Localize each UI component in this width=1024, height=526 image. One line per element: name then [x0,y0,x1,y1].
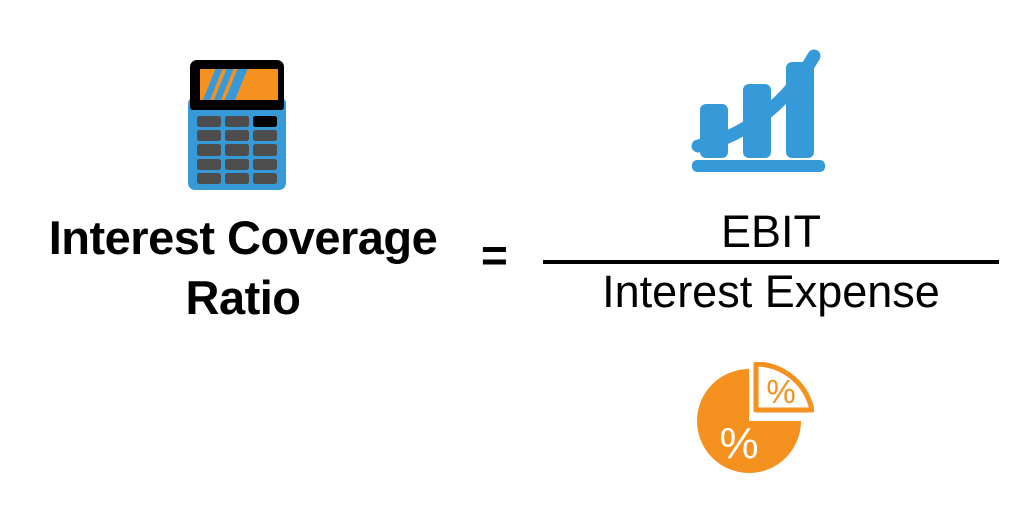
baseline-axis [692,160,825,172]
pie-minor-percent-label: % [766,373,795,410]
calculator-key [225,144,249,155]
calculator-key [253,144,277,155]
calculator-key [197,130,221,141]
pie-chart-percent-icon: % % [694,362,814,480]
bar-3 [786,62,814,158]
calculator-key [253,173,277,184]
calculator-key [225,130,249,141]
calculator-screen [200,69,278,100]
calculator-key-highlighted [253,116,277,127]
calculator-key [253,130,277,141]
pie-major-percent-label: % [719,419,758,468]
fraction-denominator: Interest Expense [543,265,999,319]
calculator-key [225,116,249,127]
bar-1 [700,104,728,158]
fraction-bar [543,260,999,264]
calculator-keypad [197,116,277,184]
calculator-key [197,144,221,155]
calculator-key [225,173,249,184]
ratio-title-line-2: Ratio [8,268,478,328]
formula-fraction: EBIT Interest Expense [543,206,999,319]
calculator-key [197,173,221,184]
ratio-title-line-1: Interest Coverage [8,208,478,268]
fraction-numerator: EBIT [543,206,999,258]
equals-sign: = [481,232,508,278]
calculator-icon [188,60,286,190]
bar-chart-growth-icon [686,42,832,172]
calculator-key [253,159,277,170]
calculator-key [197,116,221,127]
calculator-key [225,159,249,170]
bar-2 [743,84,771,158]
calculator-key [197,159,221,170]
ratio-title: Interest Coverage Ratio [8,208,478,328]
diagram-canvas: % % Interest Coverage Ratio = EBIT Inter… [0,0,1024,526]
calculator-bezel [190,60,284,110]
